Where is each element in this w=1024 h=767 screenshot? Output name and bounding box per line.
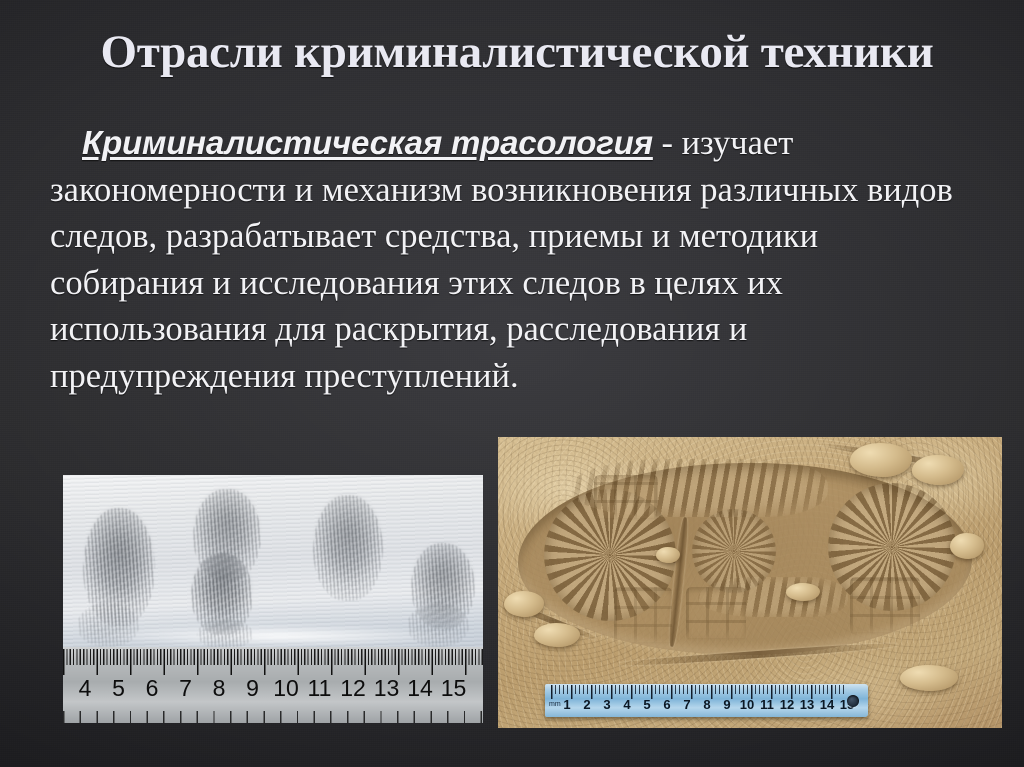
ruler-number: 10	[273, 675, 299, 702]
ruler-number: 4	[623, 697, 630, 712]
ruler-number: 6	[146, 675, 159, 702]
page-title: Отрасли криминалистической техники	[52, 28, 982, 78]
ruler-number: 5	[643, 697, 650, 712]
ruler-numbers: 456789101112131415	[63, 675, 483, 705]
sand-clod	[900, 665, 958, 691]
bootprint-ruler: mm 123456789101112131415	[545, 684, 868, 717]
bootprint-photo: mm 123456789101112131415	[498, 437, 1002, 728]
ruler-number: 14	[820, 697, 834, 712]
definition-text: - изучает закономерности и механизм возн…	[50, 124, 953, 395]
ruler-bottom-ticks	[63, 711, 483, 723]
ruler-number: 9	[246, 675, 259, 702]
ruler-number: 1	[563, 697, 570, 712]
sand-clod	[534, 623, 580, 647]
term-trasologiya: Криминалистическая трасология	[82, 124, 653, 161]
fingerprints-photo: 456789101112131415	[63, 475, 483, 723]
ruler-number: 11	[760, 697, 774, 712]
sand-clod	[504, 591, 544, 617]
sand-clod	[950, 533, 984, 559]
ruler-number: 12	[340, 675, 366, 702]
ruler-number: 11	[308, 675, 332, 702]
sand-clod	[656, 547, 680, 563]
fingerprint-mark	[313, 495, 383, 601]
ruler-major-ticks	[63, 649, 483, 675]
fingerprint-mark	[197, 619, 253, 649]
ruler-number: 6	[663, 697, 670, 712]
ruler-number: 3	[603, 697, 610, 712]
ruler-number: 7	[683, 697, 690, 712]
sand-clod	[912, 455, 964, 485]
ruler-number: 5	[112, 675, 125, 702]
ruler-number: 12	[780, 697, 794, 712]
ruler-number: 15	[441, 675, 467, 702]
ruler-number: 4	[79, 675, 92, 702]
sand-clod	[786, 583, 820, 601]
ruler-numbers: 123456789101112131415	[545, 697, 868, 715]
fingerprint-ruler: 456789101112131415	[63, 647, 483, 723]
definition-paragraph: Криминалистическая трасология - изучает …	[50, 120, 955, 399]
fingerprint-mark	[407, 603, 469, 647]
boot-impression	[518, 463, 972, 655]
ruler-hole	[847, 695, 859, 707]
ruler-number: 7	[179, 675, 192, 702]
ruler-number: 8	[213, 675, 226, 702]
ruler-number: 8	[703, 697, 710, 712]
presentation-slide: Отрасли криминалистической техники Крими…	[0, 0, 1024, 767]
ruler-number: 2	[583, 697, 590, 712]
sand-clod	[850, 443, 912, 477]
ruler-number: 9	[723, 697, 730, 712]
ruler-number: 13	[374, 675, 400, 702]
ruler-number: 10	[740, 697, 754, 712]
ruler-number: 14	[407, 675, 433, 702]
surface-highlight	[97, 625, 458, 647]
fingerprint-mark	[77, 603, 139, 647]
body-text-block: Криминалистическая трасология - изучает …	[50, 120, 955, 399]
ruler-number: 13	[800, 697, 814, 712]
